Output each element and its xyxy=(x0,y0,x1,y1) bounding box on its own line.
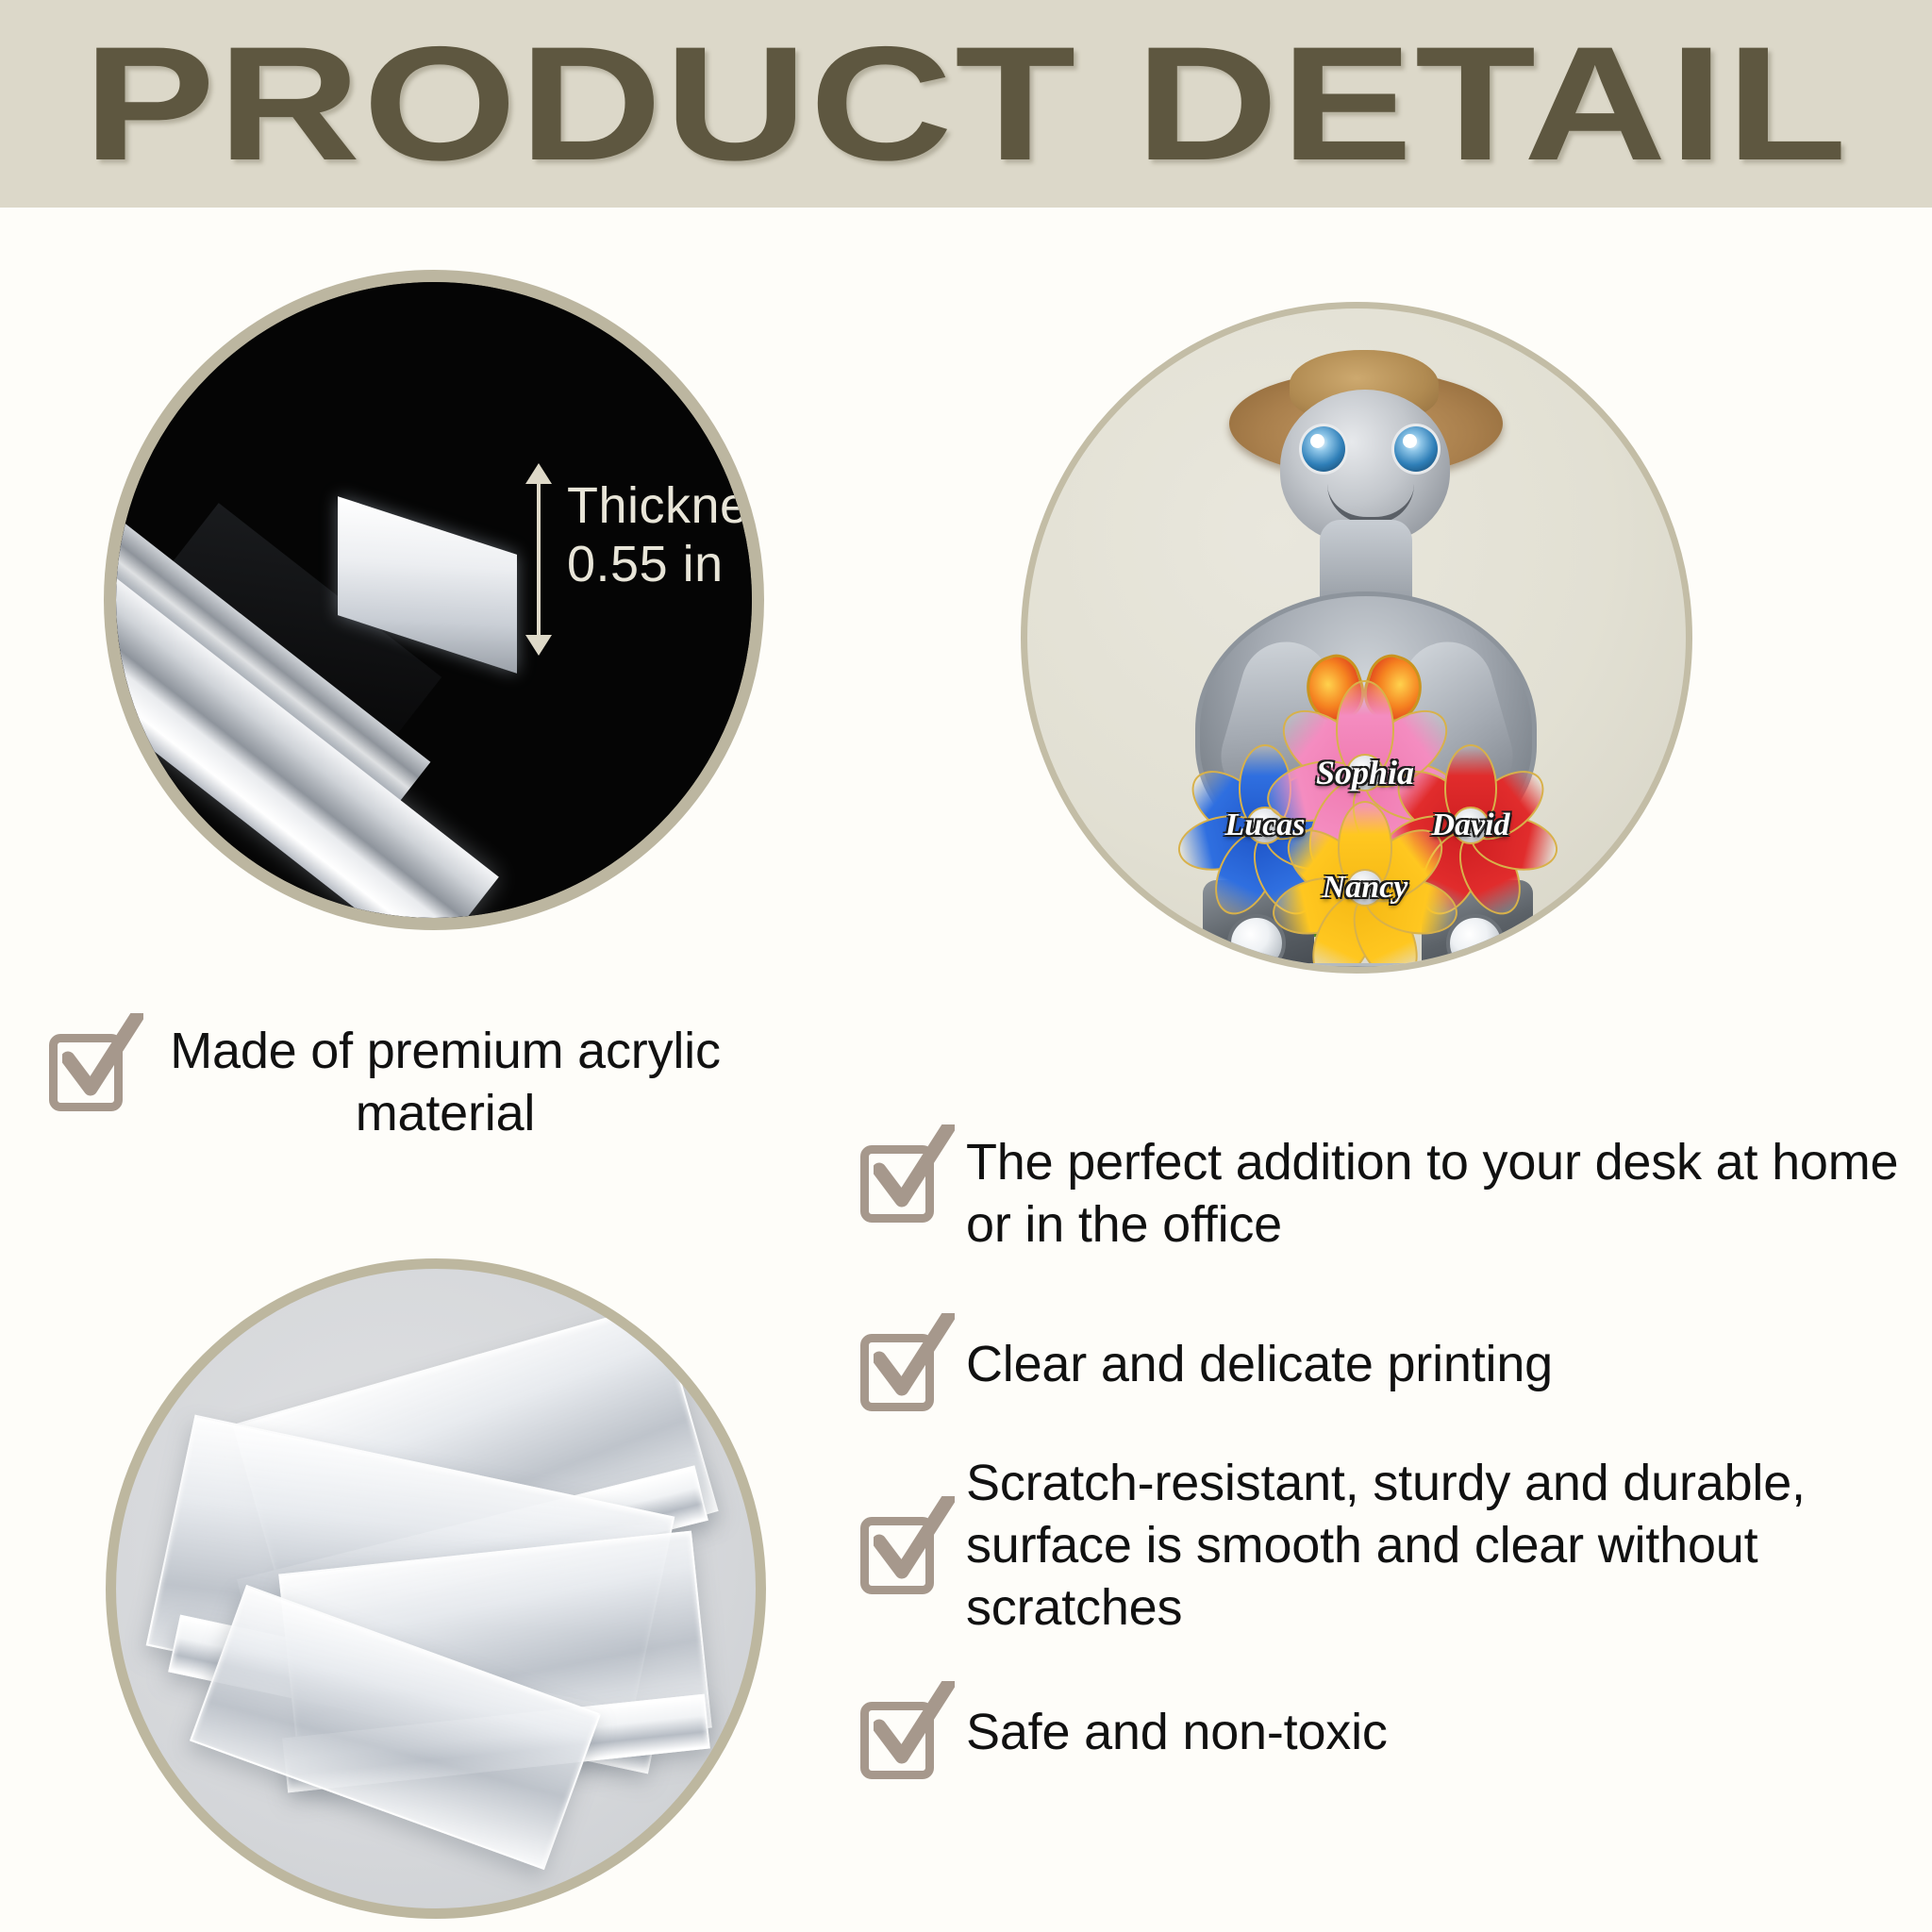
check-mark-icon xyxy=(874,1681,955,1772)
thickness-label-line1: Thickness xyxy=(567,476,764,535)
feature-item-acrylic: Made of premium acrylic material xyxy=(49,1021,766,1145)
acrylic-sheets-photo-circle xyxy=(106,1258,766,1919)
checkbox-checked-icon xyxy=(860,1694,941,1775)
feature-item-safe: Safe and non-toxic xyxy=(860,1689,1907,1775)
feature-item-printing: Clear and delicate printing xyxy=(860,1321,1907,1407)
check-mark-icon xyxy=(874,1124,955,1215)
check-mark-icon xyxy=(874,1313,955,1404)
thickness-label-line2: 0.55 in xyxy=(567,535,764,593)
feature-item-scratch: Scratch-resistant, sturdy and durable, s… xyxy=(860,1453,1907,1640)
flower-name-label: Sophia xyxy=(1316,753,1414,792)
thickness-photo-circle: Thickness 0.55 in xyxy=(104,270,764,930)
feature-label: Safe and non-toxic xyxy=(966,1689,1388,1764)
feature-label: Clear and delicate printing xyxy=(966,1321,1553,1396)
figurine-photo-circle: Lucas Sophia David Nancy Grandma xyxy=(1021,302,1692,974)
checkbox-checked-icon xyxy=(860,1326,941,1407)
thickness-arrow-icon xyxy=(537,482,541,637)
figurine-base-tray xyxy=(1171,963,1565,974)
feature-item-desk: The perfect addition to your desk at hom… xyxy=(860,1132,1907,1257)
flower-name-label: Lucas xyxy=(1225,808,1306,843)
check-mark-icon xyxy=(62,1013,143,1104)
thickness-photo-background: Thickness 0.55 in xyxy=(116,282,752,918)
feature-label: Scratch-resistant, sturdy and durable, s… xyxy=(966,1453,1853,1640)
turtle-eye-right xyxy=(1391,424,1441,475)
flower-name-label: David xyxy=(1431,808,1509,843)
checkbox-checked-icon xyxy=(49,1026,130,1108)
feature-label: The perfect addition to your desk at hom… xyxy=(966,1132,1907,1257)
checkbox-checked-icon xyxy=(860,1138,941,1219)
nameplate: Grandma xyxy=(1246,971,1493,974)
thickness-callout-label: Thickness 0.55 in xyxy=(567,476,764,593)
turtle-eye-left xyxy=(1299,424,1348,475)
page-title: PRODUCT DETAIL xyxy=(83,23,1849,185)
page-header-band: PRODUCT DETAIL xyxy=(0,0,1932,208)
feature-label: Made of premium acrylic material xyxy=(153,1021,738,1145)
flower-name-label: Nancy xyxy=(1323,870,1408,906)
check-mark-icon xyxy=(874,1496,955,1587)
checkbox-checked-icon xyxy=(860,1509,941,1591)
turtle-figurine: Lucas Sophia David Nancy Grandma xyxy=(1027,308,1686,967)
